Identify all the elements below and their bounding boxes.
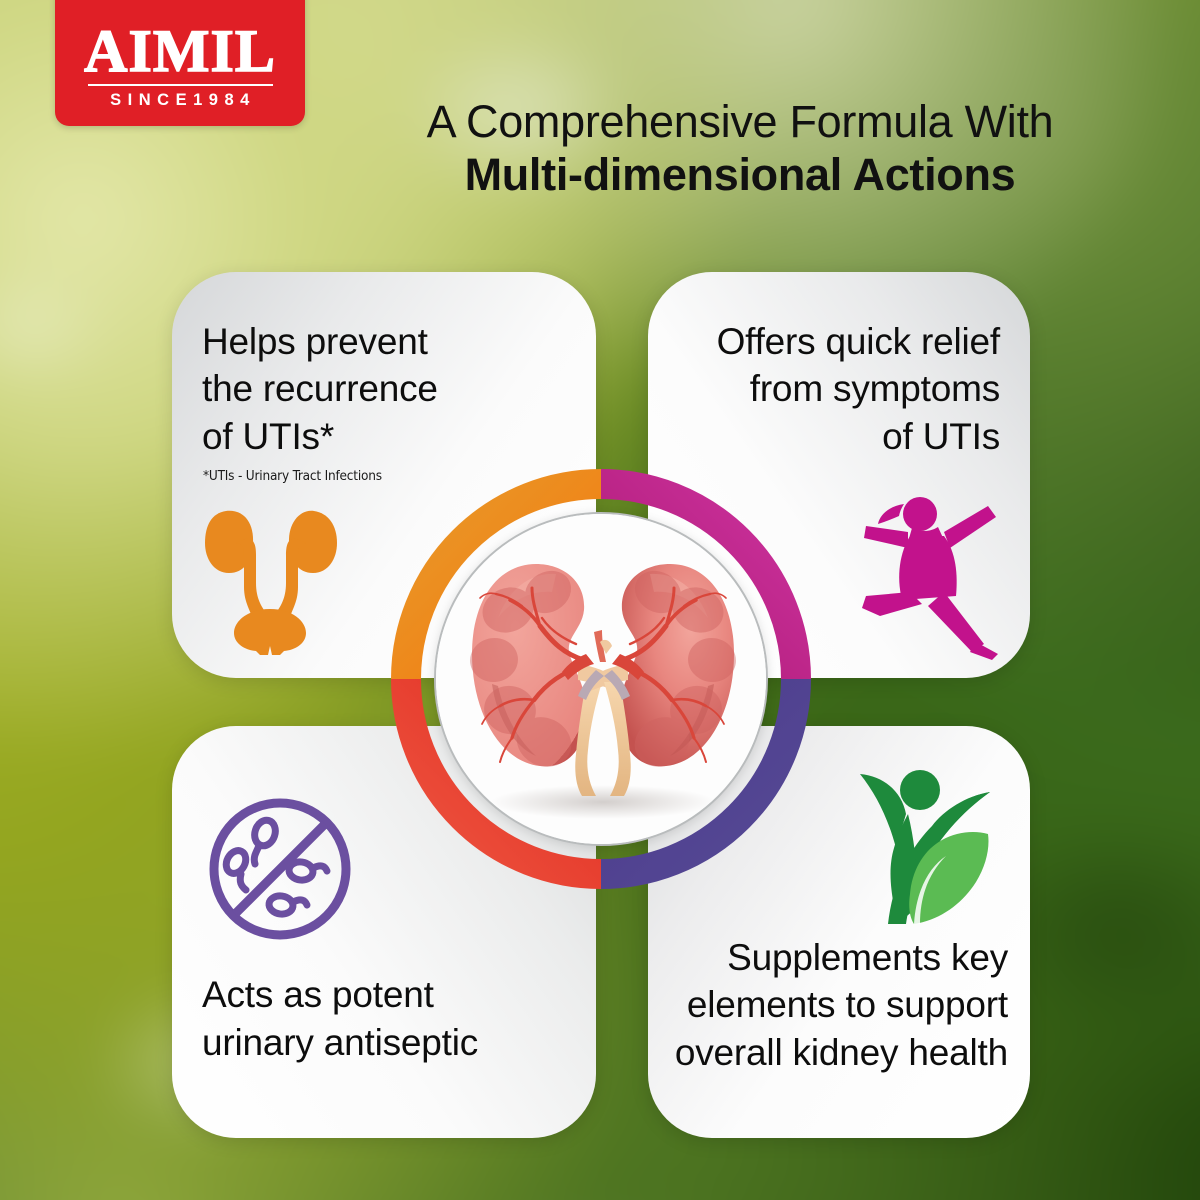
headline-line-1: A Comprehensive Formula With	[330, 95, 1150, 148]
logo-wordmark: AIMIL	[84, 23, 276, 80]
headline-line-2: Multi-dimensional Actions	[330, 148, 1150, 201]
benefit-text: Offers quick relief from symptoms of UTI…	[717, 318, 1000, 460]
benefit-text: Supplements key elements to support over…	[675, 934, 1008, 1076]
kidneys-illustration	[434, 512, 768, 846]
page-title: A Comprehensive Formula With Multi-dimen…	[330, 95, 1150, 201]
center-ring	[386, 464, 816, 894]
logo-tagline: SINCE1984	[110, 91, 256, 110]
active-woman-icon	[852, 492, 1020, 660]
benefit-footnote: *UTIs - Urinary Tract Infections	[203, 468, 382, 484]
benefit-text: Helps prevent the recurrence of UTIs*	[202, 318, 438, 460]
no-bacteria-icon	[203, 792, 358, 947]
benefit-text: Acts as potent urinary antiseptic	[202, 971, 478, 1066]
logo-divider	[88, 84, 273, 86]
aimil-logo: AIMIL SINCE1984	[55, 0, 305, 126]
urinary-tract-icon	[196, 503, 344, 655]
leaf-vitality-icon	[858, 752, 1026, 924]
